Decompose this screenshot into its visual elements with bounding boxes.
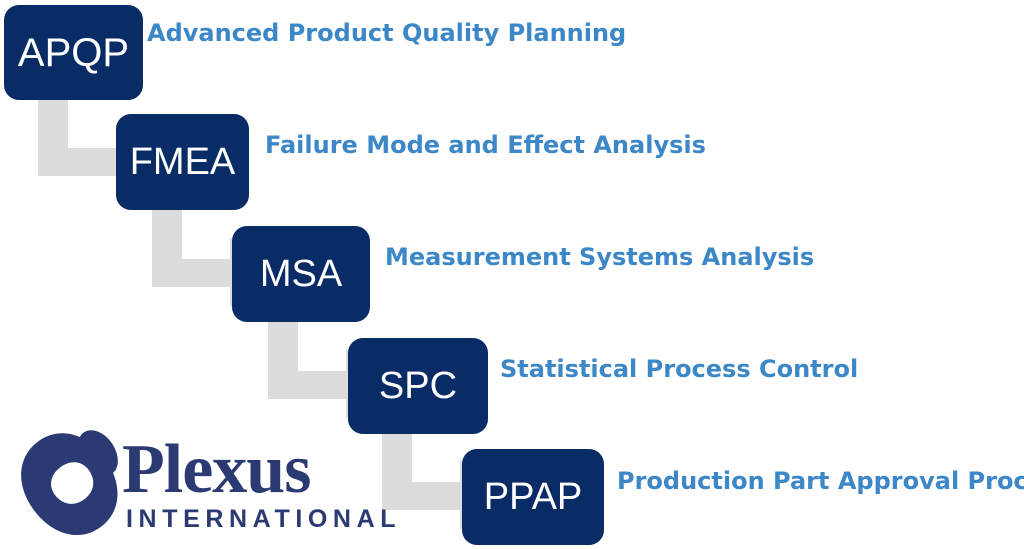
process-description-spc: Statistical Process Control: [500, 357, 858, 381]
process-node-label: MSA: [260, 255, 342, 293]
process-node-label: PPAP: [484, 478, 583, 516]
logo-wordmark: Plexus: [122, 435, 310, 505]
process-description-fmea: Failure Mode and Effect Analysis: [265, 133, 706, 157]
process-node-fmea[interactable]: FMEA: [116, 114, 249, 210]
process-node-label: APQP: [18, 33, 129, 73]
core-tools-diagram: APQP Advanced Product Quality Planning F…: [0, 0, 1024, 549]
process-node-spc[interactable]: SPC: [348, 338, 488, 434]
plexus-swirl-icon: [18, 423, 128, 535]
process-node-label: SPC: [379, 367, 457, 405]
process-description-apqp: Advanced Product Quality Planning: [147, 21, 626, 45]
process-node-msa[interactable]: MSA: [232, 226, 370, 322]
logo-subtitle: INTERNATIONAL: [126, 507, 401, 532]
process-node-ppap[interactable]: PPAP: [462, 449, 604, 545]
process-description-ppap: Production Part Approval Process: [617, 469, 1024, 493]
process-node-label: FMEA: [130, 143, 236, 181]
process-description-msa: Measurement Systems Analysis: [385, 245, 814, 269]
process-node-apqp[interactable]: APQP: [4, 5, 143, 100]
plexus-international-logo: Plexus INTERNATIONAL: [18, 421, 348, 539]
